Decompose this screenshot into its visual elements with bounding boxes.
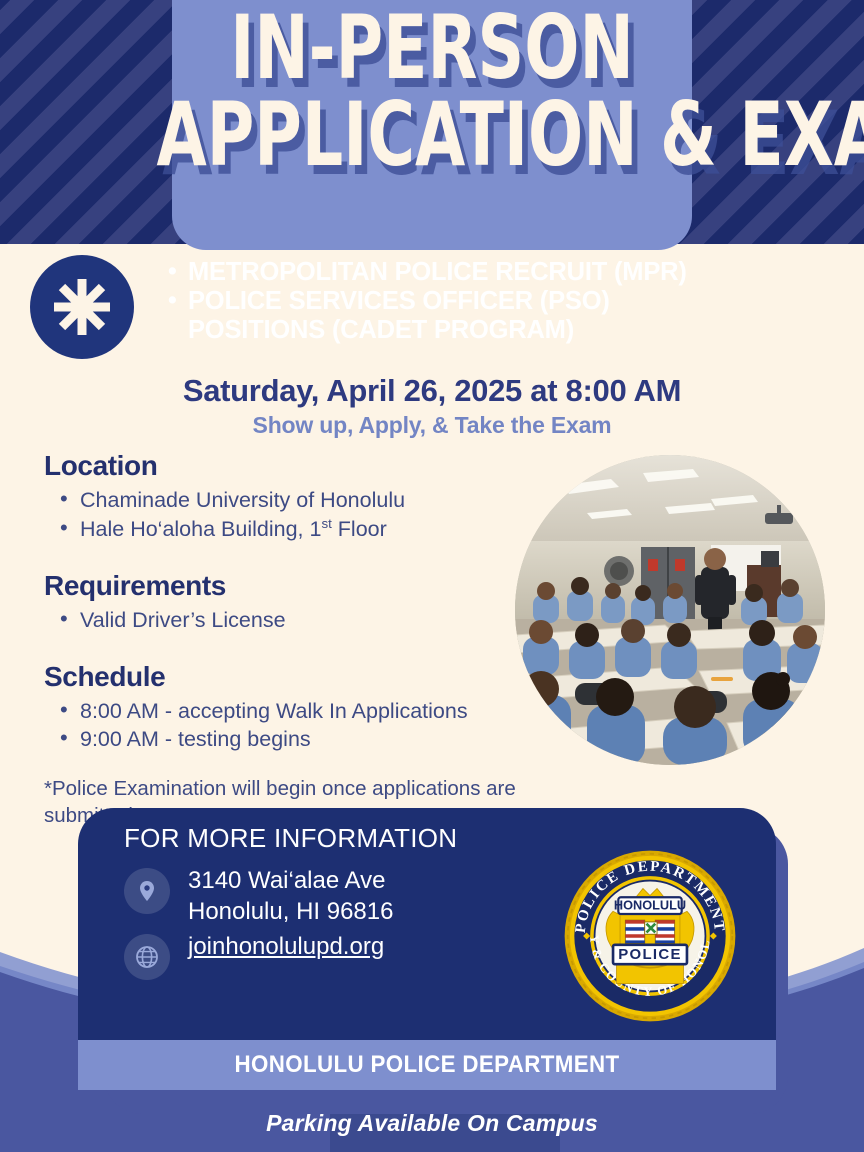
- address-row: 3140 Wai‘alae Ave Honolulu, HI 96816: [124, 866, 393, 927]
- classroom-photo-illustration: [515, 455, 825, 765]
- address-line-2: Honolulu, HI 96816: [188, 898, 393, 925]
- requirements-item: Valid Driver’s License: [44, 606, 564, 635]
- details-column: Location Chaminade University of Honolul…: [44, 450, 564, 829]
- globe-icon: [124, 934, 170, 980]
- location-list: Chaminade University of Honolulu Hale Ho…: [44, 486, 564, 544]
- map-pin-glyph: [135, 879, 159, 903]
- website-text: joinhonolulupd.org: [188, 932, 384, 963]
- requirements-heading: Requirements: [44, 570, 564, 602]
- requirements-list: Valid Driver’s License: [44, 606, 564, 635]
- address-line-1: 3140 Wai‘alae Ave: [188, 867, 385, 894]
- location-item-suffix: Floor: [332, 517, 387, 541]
- website-row[interactable]: joinhonolulupd.org: [124, 932, 384, 980]
- schedule-heading: Schedule: [44, 661, 564, 693]
- hpd-badge-seal: POLICE DEPARTMENT CITY & COUNTY OF HONOL…: [562, 848, 738, 1024]
- website-link[interactable]: joinhonolulupd.org: [188, 933, 384, 960]
- map-pin-icon: [124, 868, 170, 914]
- positions-list: METROPOLITAN POLICE RECRUIT (MPR) POLICE…: [166, 258, 816, 345]
- asterisk-badge: [30, 255, 134, 359]
- event-date: Saturday, April 26, 2025 at 8:00 AM: [0, 373, 864, 409]
- badge-banner-bottom-text: POLICE: [618, 946, 682, 963]
- globe-glyph: [134, 944, 160, 970]
- schedule-item: 9:00 AM - testing begins: [44, 725, 564, 754]
- org-name: HONOLULU POLICE DEPARTMENT: [102, 1040, 751, 1090]
- schedule-list: 8:00 AM - accepting Walk In Applications…: [44, 697, 564, 755]
- location-item-prefix: Hale Ho‘aloha Building, 1: [80, 517, 321, 541]
- address-text: 3140 Wai‘alae Ave Honolulu, HI 96816: [188, 866, 393, 927]
- schedule-item: 8:00 AM - accepting Walk In Applications: [44, 697, 564, 726]
- classroom-photo: [515, 455, 825, 765]
- ordinal-suffix: st: [321, 516, 331, 531]
- poster-title: IN-PERSON APPLICATION & EXAM: [96, 8, 768, 176]
- event-tagline: Show up, Apply, & Take the Exam: [0, 412, 864, 439]
- badge-banner-top-text: HONOLULU: [614, 898, 686, 913]
- location-item: Hale Ho‘aloha Building, 1st Floor: [44, 515, 564, 544]
- title-line-1: IN-PERSON: [156, 8, 707, 89]
- position-item: POLICE SERVICES OFFICER (PSO): [166, 287, 816, 316]
- title-line-2: APPLICATION & EXAM: [156, 95, 707, 176]
- location-item: Chaminade University of Honolulu: [44, 486, 564, 515]
- position-item-continuation: POSITIONS (CADET PROGRAM): [166, 316, 816, 345]
- contact-heading: FOR MORE INFORMATION: [124, 823, 457, 854]
- position-item: METROPOLITAN POLICE RECRUIT (MPR): [166, 258, 816, 287]
- flyer-poster: IN-PERSON APPLICATION & EXAM METROPOLITA…: [0, 0, 864, 1152]
- asterisk-starburst-icon: [52, 277, 112, 337]
- location-heading: Location: [44, 450, 564, 482]
- parking-note: Parking Available On Campus: [0, 1110, 864, 1137]
